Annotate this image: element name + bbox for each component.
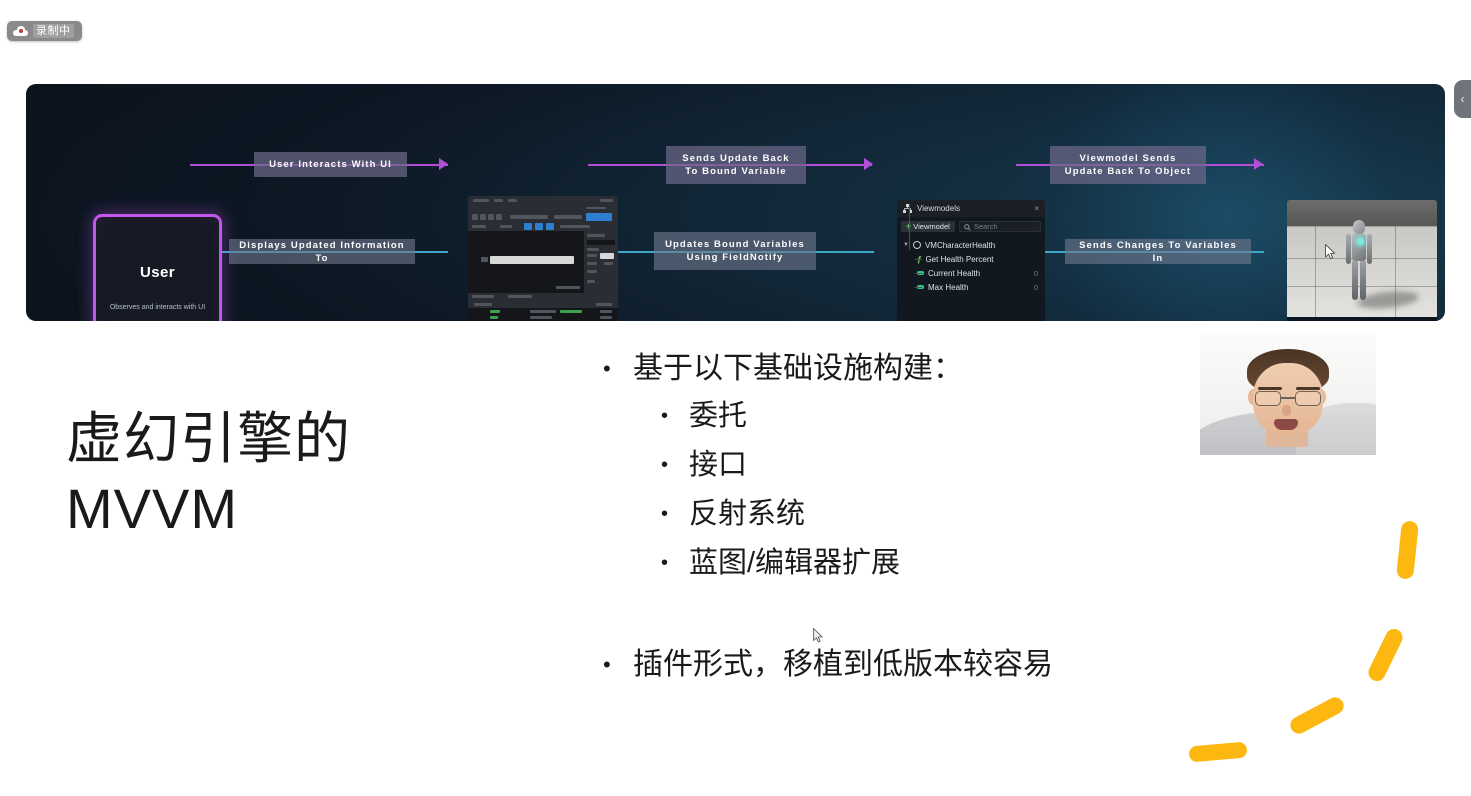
tree-row-value: 0 bbox=[1034, 283, 1038, 292]
diagram-node-umg-widget: UMG Widget Frontend UI which user intera… bbox=[468, 196, 618, 321]
tree-row-value: 0 bbox=[1034, 269, 1038, 278]
user-node-title: User bbox=[140, 264, 175, 281]
list-item-label: 反射系统 bbox=[689, 490, 805, 539]
bullet-marker: • bbox=[661, 392, 689, 441]
collapse-tab-glyph: ‹ bbox=[1461, 92, 1465, 106]
edge-label-viewmodel-sends-update: Viewmodel Sends Update Back To Object bbox=[1050, 146, 1206, 184]
viewmodels-tab[interactable]: Viewmodels × bbox=[897, 200, 1045, 217]
list-item: • 接口 bbox=[661, 441, 1223, 490]
list-item: • 反射系统 bbox=[661, 490, 1223, 539]
diagram-node-object: Object in Application Any object outside… bbox=[1287, 200, 1437, 321]
decoration-dash-2 bbox=[1366, 626, 1406, 684]
viewmodel-tree-icon bbox=[903, 200, 912, 218]
page-title-line1: 虚幻引擎的 bbox=[66, 404, 486, 474]
page-title: 虚幻引擎的 MVVM bbox=[66, 404, 486, 544]
list-item: • 蓝图/编辑器扩展 bbox=[661, 539, 1223, 588]
list-item-label: 基于以下基础设施构建： bbox=[633, 345, 963, 392]
edge-arrow-vm-to-obj bbox=[1254, 158, 1263, 170]
tree-row-label: VMCharacterHealth bbox=[925, 241, 995, 250]
viewmodel-toolbar: + Viewmodel Search bbox=[897, 217, 1045, 234]
tree-row-max-health[interactable]: Max Health 0 bbox=[903, 280, 1045, 294]
chevron-down-icon[interactable]: ▼ bbox=[903, 242, 909, 248]
edge-arrow-user-to-umg bbox=[439, 158, 448, 170]
chevron-left-icon[interactable]: ‹ bbox=[1454, 80, 1471, 118]
bullet-marker: • bbox=[661, 490, 689, 539]
edge-label-displays-updated: Displays Updated Information To bbox=[229, 239, 415, 264]
diagram-node-user: User Observes and interacts with UI bbox=[93, 214, 222, 321]
list-item-label: 接口 bbox=[689, 441, 747, 490]
search-icon bbox=[964, 218, 971, 236]
cloud-record-icon bbox=[13, 26, 28, 36]
bullet-marker: • bbox=[661, 539, 689, 588]
add-viewmodel-label: Viewmodel bbox=[913, 222, 950, 231]
list-item: • 插件形式，移植到低版本较容易 bbox=[603, 641, 1223, 688]
viewmodels-tab-label: Viewmodels bbox=[917, 204, 960, 213]
edge-label-user-interacts: User Interacts With UI bbox=[254, 152, 407, 177]
page-mouse-cursor bbox=[813, 628, 824, 648]
tree-row-label: Max Health bbox=[928, 283, 968, 292]
object-viewport-screenshot bbox=[1287, 200, 1437, 317]
bullet-marker: • bbox=[603, 641, 633, 688]
edge-label-sends-update-back: Sends Update Back To Bound Variable bbox=[666, 146, 806, 184]
bullet-list: • 基于以下基础设施构建： • 委托 • 接口 • 反射系统 • 蓝图/编辑器扩… bbox=[603, 345, 1223, 688]
recording-badge-label: 录制中 bbox=[33, 24, 74, 38]
decoration-dash-4 bbox=[1188, 742, 1247, 763]
bullet-marker: • bbox=[603, 345, 633, 392]
tree-row-label: Get Health Percent bbox=[925, 255, 993, 264]
tree-row-label: Current Health bbox=[928, 269, 980, 278]
edge-label-sends-changes: Sends Changes To Variables In bbox=[1065, 239, 1251, 264]
list-item-label: 委托 bbox=[689, 392, 747, 441]
decoration-dash-1 bbox=[1396, 520, 1419, 579]
list-item-label: 蓝图/编辑器扩展 bbox=[689, 539, 900, 588]
viewmodel-tree: ▼ VMCharacterHealth ƒ Get Health Percent… bbox=[897, 234, 1045, 294]
decoration-dash-3 bbox=[1287, 694, 1346, 736]
list-item-label: 插件形式，移植到低版本较容易 bbox=[633, 641, 1053, 688]
list-item: • 委托 bbox=[661, 392, 1223, 441]
tree-row-current-health[interactable]: Current Health 0 bbox=[903, 266, 1045, 280]
character-figure bbox=[1344, 220, 1374, 302]
list-item: • 基于以下基础设施构建： bbox=[603, 345, 1223, 392]
recording-badge: 录制中 bbox=[7, 21, 82, 41]
viewmodel-search-input[interactable]: Search bbox=[959, 221, 1041, 232]
edge-arrow-umg-to-vm bbox=[864, 158, 873, 170]
viewport-mouse-cursor bbox=[1325, 244, 1336, 265]
edge-label-updates-bound-variables: Updates Bound Variables Using FieldNotif… bbox=[654, 232, 816, 270]
bullet-marker: • bbox=[661, 441, 689, 490]
diagram-node-viewmodel: Viewmodels × + Viewmodel Search ▼ VMChar… bbox=[897, 200, 1045, 321]
tree-row-get-health-percent[interactable]: ƒ Get Health Percent bbox=[903, 252, 1045, 266]
tree-row-vmcharacterhealth[interactable]: ▼ VMCharacterHealth bbox=[903, 238, 1045, 252]
mvvm-diagram: User Observes and interacts with UI bbox=[26, 84, 1445, 321]
page-title-line2: MVVM bbox=[66, 474, 486, 544]
class-sphere-icon bbox=[913, 241, 921, 249]
close-icon[interactable]: × bbox=[1034, 204, 1039, 213]
viewmodel-search-placeholder: Search bbox=[974, 222, 998, 231]
umg-editor-screenshot bbox=[468, 196, 618, 321]
webcam-overlay bbox=[1200, 333, 1376, 455]
user-node-subtitle: Observes and interacts with UI bbox=[104, 303, 211, 313]
